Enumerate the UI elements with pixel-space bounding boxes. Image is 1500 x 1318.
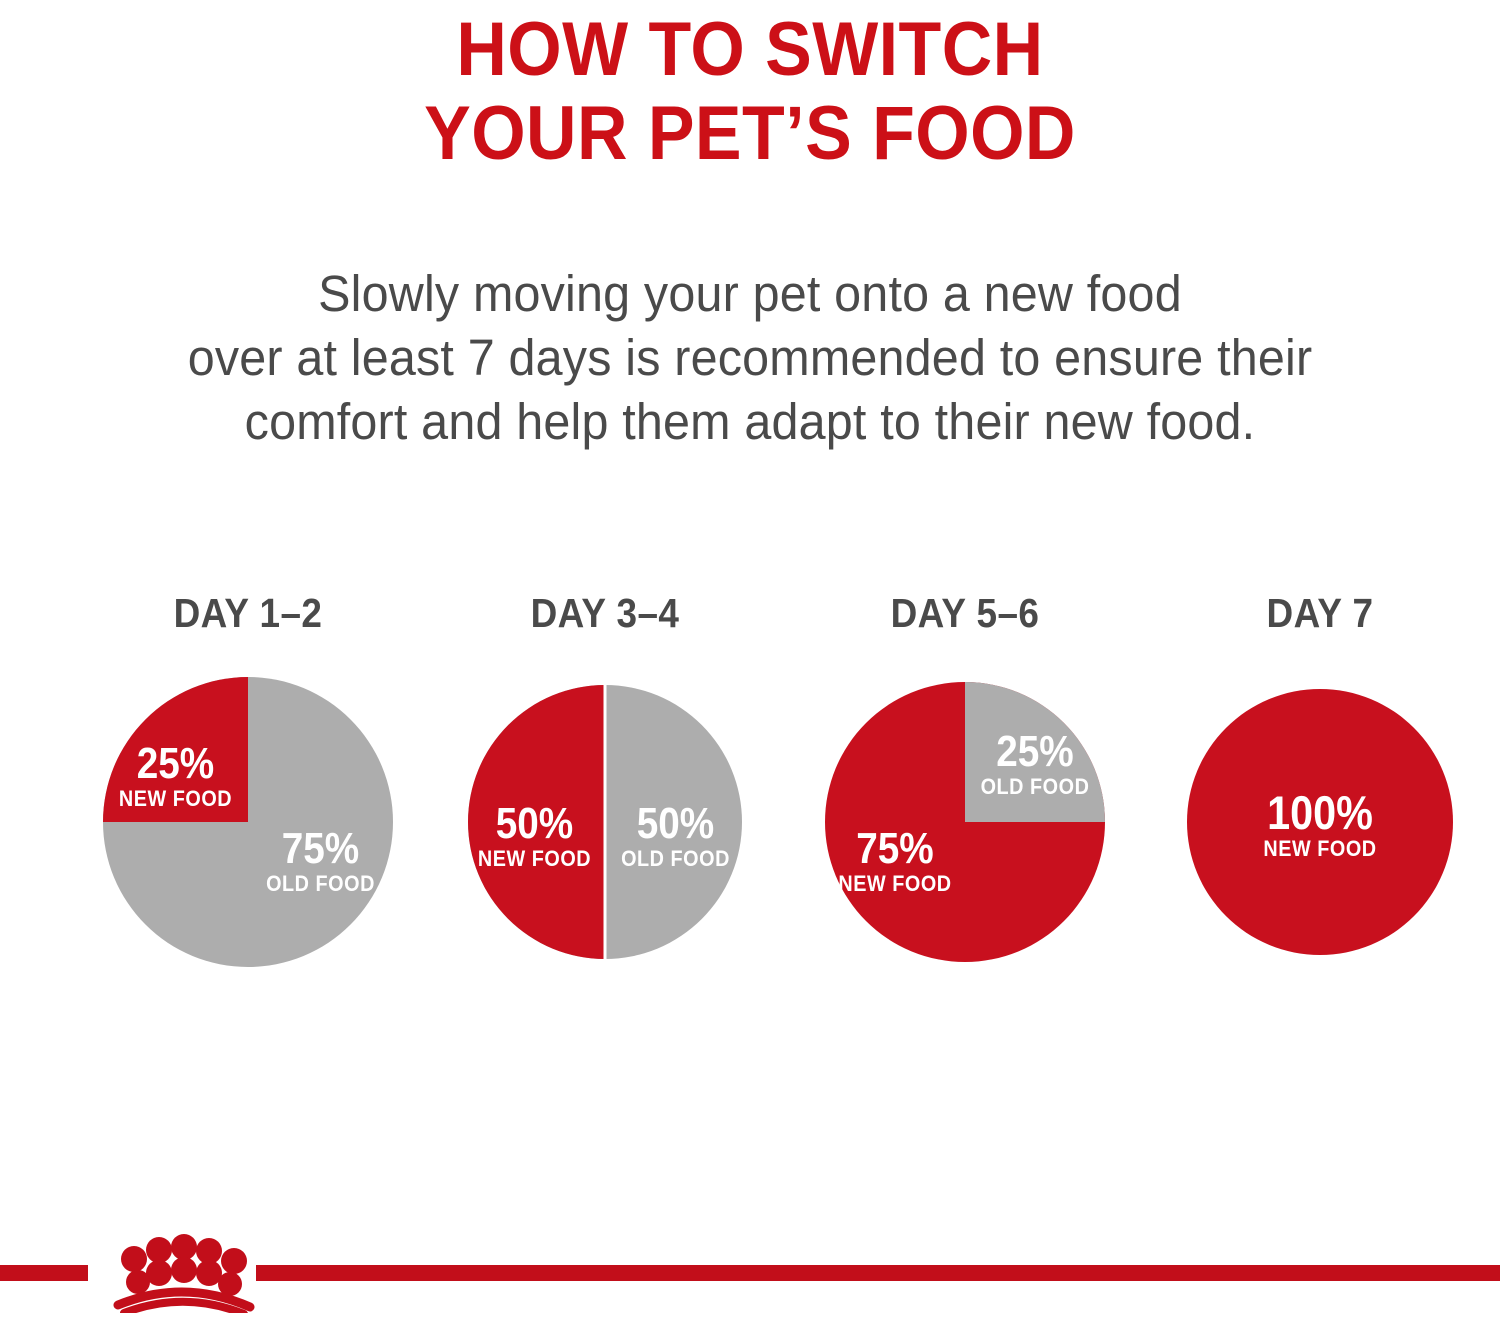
day-label-2: DAY 3–4 <box>443 590 767 636</box>
footer <box>0 1228 1500 1313</box>
pie-1-slice-new-food <box>103 677 248 822</box>
pie-chart-3: 25% OLD FOOD 75% NEW FOOD <box>825 682 1105 962</box>
royal-canin-crown-logo <box>96 1228 256 1318</box>
footer-rule-right <box>256 1265 1500 1281</box>
pie-chart-1: 25% NEW FOOD 75% OLD FOOD <box>103 677 393 967</box>
pie-4-slice-new-food <box>1187 689 1453 955</box>
pie-2-slice-new-food <box>468 685 605 959</box>
pie-chart-4: 100% NEW FOOD <box>1187 689 1453 955</box>
pie-3-slice-old-food <box>965 682 1105 822</box>
pie-1-svg <box>103 677 393 967</box>
pie-3-svg <box>825 682 1105 962</box>
day-label-1: DAY 1–2 <box>86 590 410 636</box>
day-label-3: DAY 5–6 <box>803 590 1127 636</box>
day-label-4: DAY 7 <box>1158 590 1482 636</box>
footer-rule-left <box>0 1265 88 1281</box>
pie-chart-row: DAY 1–2 25% NEW FOOD 75% OLD FOOD DAY 3–… <box>0 0 1500 1000</box>
pie-4-svg <box>1187 689 1453 955</box>
pie-2-svg <box>468 685 742 959</box>
crown-icon <box>96 1228 256 1313</box>
pie-chart-2: 50% NEW FOOD 50% OLD FOOD <box>468 685 742 959</box>
